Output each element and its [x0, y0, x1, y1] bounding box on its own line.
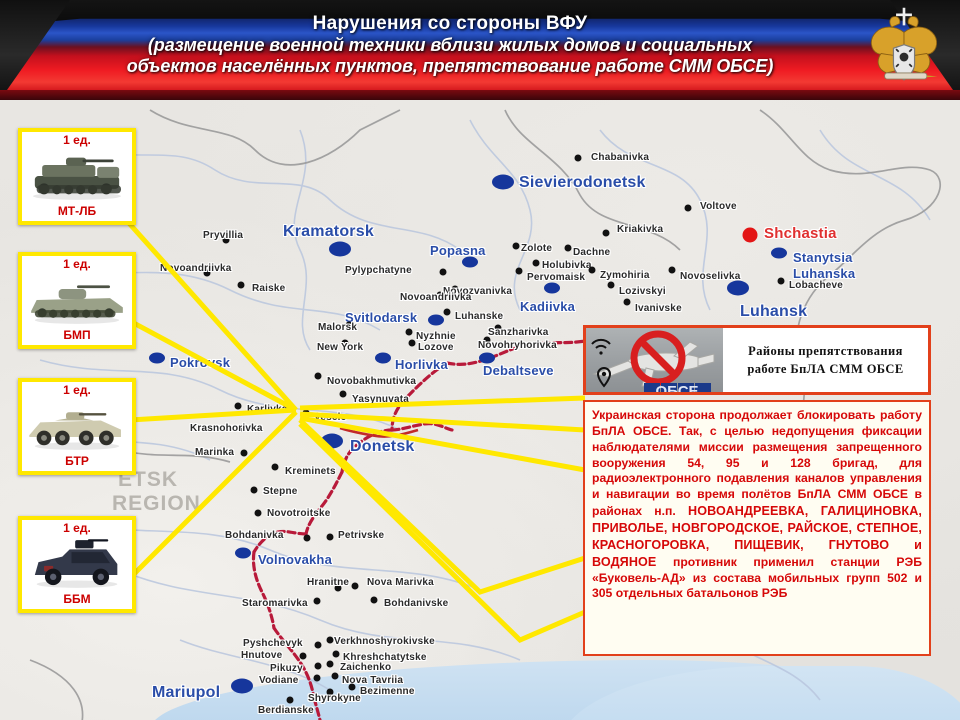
city-label: Horlivka: [395, 357, 448, 372]
town-dot[interactable]: [516, 268, 523, 275]
town-dot[interactable]: [314, 598, 321, 605]
town-label: Malorsk: [318, 322, 357, 333]
city-label: Debaltseve: [483, 363, 554, 378]
town-dot[interactable]: [251, 487, 258, 494]
town-dot[interactable]: [352, 583, 359, 590]
town-label: Kriakivka: [617, 224, 663, 235]
town-dot[interactable]: [241, 450, 248, 457]
town-dot[interactable]: [778, 278, 785, 285]
town-label: Dachne: [573, 247, 610, 258]
town-label: Krasnohorivka: [190, 423, 263, 434]
town-label: Pylypchatyne: [345, 265, 412, 276]
town-label: Hranitne: [307, 577, 349, 588]
town-label: Holubivka: [542, 260, 592, 271]
osce-wordmark: ОБСЕ: [644, 383, 711, 392]
town-dot[interactable]: [327, 534, 334, 541]
town-label: Chabanivka: [591, 152, 649, 163]
armored-truck-icon: [22, 536, 132, 592]
city-dot[interactable]: [321, 434, 343, 449]
vehicle-qty: 1 ед.: [22, 384, 132, 397]
city-label: Volnovakha: [258, 552, 332, 567]
city-dot[interactable]: [235, 548, 251, 559]
town-label: Zaichenko: [340, 662, 391, 673]
vehicle-qty: 1 ед.: [22, 258, 132, 271]
vehicle-card-bbm[interactable]: 1 ед. ББМ: [18, 516, 136, 613]
town-label: Shyrokyne: [308, 693, 361, 704]
town-dot[interactable]: [608, 282, 615, 289]
town-label: Nova Marivka: [367, 577, 434, 588]
info-text-panel: Украинская сторона продолжает блокироват…: [583, 400, 931, 656]
town-dot[interactable]: [575, 155, 582, 162]
city-dot-highlight[interactable]: [743, 228, 758, 243]
vehicle-qty: 1 ед.: [22, 522, 132, 535]
double-headed-eagle-emblem: [860, 6, 948, 94]
town-label: Vesele: [314, 412, 346, 423]
legend-box: ОБСЕ Районы препятствования работе БпЛА …: [583, 325, 931, 395]
city-dot[interactable]: [727, 281, 749, 296]
town-label: Novoselivka: [680, 271, 741, 282]
town-label: Yasynuvata: [352, 394, 409, 405]
town-label: Voltove: [700, 201, 737, 212]
city-label: Shchastia: [764, 225, 837, 242]
town-label: Novobakhmutivka: [327, 376, 416, 387]
city-label: Luhansk: [740, 303, 807, 321]
town-dot[interactable]: [333, 651, 340, 658]
town-label: Lozove: [418, 342, 454, 353]
town-label: Karlivka: [247, 404, 288, 415]
city-label: Kadiivka: [520, 299, 575, 314]
title-line-1: Нарушения со стороны ВФУ: [40, 10, 860, 35]
vehicle-card-btr[interactable]: 1 ед. БТР: [18, 378, 136, 475]
city-dot[interactable]: [375, 353, 391, 364]
town-dot[interactable]: [314, 675, 321, 682]
town-label: Bezimenne: [360, 686, 415, 697]
city-dot[interactable]: [492, 175, 514, 190]
town-dot[interactable]: [624, 299, 631, 306]
town-dot[interactable]: [315, 642, 322, 649]
city-dot[interactable]: [462, 257, 478, 268]
town-dot[interactable]: [238, 282, 245, 289]
town-label: Novotroitske: [267, 508, 331, 519]
town-label: Petrivske: [338, 530, 384, 541]
town-label: Novoandriivka: [400, 292, 472, 303]
town-dot[interactable]: [349, 684, 356, 691]
town-dot[interactable]: [533, 260, 540, 267]
town-label: New York: [317, 342, 363, 353]
town-dot[interactable]: [287, 697, 294, 704]
city-label: Sievierodonetsk: [519, 174, 646, 192]
town-dot[interactable]: [565, 245, 572, 252]
city-dot[interactable]: [149, 353, 165, 364]
city-dot[interactable]: [231, 679, 253, 694]
title-line-3: объектов населённых пунктов, препятствов…: [40, 56, 860, 77]
town-dot[interactable]: [589, 267, 596, 274]
town-label: Vodiane: [259, 675, 299, 686]
town-label: Novoandriivka: [160, 263, 232, 274]
title-banner: Нарушения со стороны ВФУ (размещение вое…: [0, 0, 960, 100]
town-label: Bohdanivka: [225, 530, 284, 541]
vehicle-name: МТ-ЛБ: [22, 205, 132, 218]
uav-thumbnail: ОБСЕ: [586, 328, 723, 392]
city-label: Mariupol: [152, 684, 220, 702]
town-dot[interactable]: [315, 373, 322, 380]
town-label: Stepne: [263, 486, 298, 497]
town-label: Marinka: [195, 447, 234, 458]
town-dot[interactable]: [315, 663, 322, 670]
town-label: Berdianske: [258, 705, 314, 716]
town-dot[interactable]: [440, 269, 447, 276]
town-dot[interactable]: [327, 637, 334, 644]
city-dot[interactable]: [329, 242, 351, 257]
city-label: Donetsk: [350, 438, 415, 456]
town-label: Raiske: [252, 283, 285, 294]
city-label: Stanytsia: [793, 250, 853, 265]
legend-caption-line1: Районы препятствования: [748, 344, 903, 358]
town-label: Pryvillia: [203, 230, 243, 241]
town-label: Ivanivske: [635, 303, 682, 314]
wheeled-apc-icon: [22, 398, 132, 454]
town-dot[interactable]: [444, 309, 451, 316]
ifv-icon: [22, 272, 132, 328]
panel-text-lead: Украинская сторона продолжает блокироват…: [592, 408, 922, 518]
town-dot[interactable]: [304, 535, 311, 542]
wifi-icon: [592, 340, 610, 355]
city-label: Luhanska: [793, 266, 855, 281]
vehicle-name: ББМ: [22, 593, 132, 606]
vehicle-name: БТР: [22, 455, 132, 468]
city-label: Pokrovsk: [170, 355, 230, 370]
town-dot[interactable]: [272, 464, 279, 471]
vehicle-name: БМП: [22, 329, 132, 342]
slide-root: Нарушения со стороны ВФУ (размещение вое…: [0, 0, 960, 720]
legend-caption: Районы препятствования работе БпЛА СММ О…: [723, 328, 928, 392]
city-dot[interactable]: [771, 248, 787, 259]
town-dot[interactable]: [340, 391, 347, 398]
town-dot[interactable]: [303, 410, 310, 417]
town-label: Staromarivka: [242, 598, 308, 609]
town-label: Sanzharivka: [488, 327, 549, 338]
town-label: Lozivskyi: [619, 286, 666, 297]
town-label: Bohdanivske: [384, 598, 448, 609]
town-label: Nyzhnie: [416, 331, 456, 342]
town-label: Zymohiria: [600, 270, 650, 281]
legend-caption-line2: работе БпЛА СММ ОБСЕ: [747, 362, 903, 376]
town-dot[interactable]: [371, 597, 378, 604]
town-dot[interactable]: [603, 230, 610, 237]
town-dot[interactable]: [255, 510, 262, 517]
city-dot[interactable]: [479, 353, 495, 364]
svg-text:ОБСЕ: ОБСЕ: [655, 383, 698, 392]
town-label: Verkhnoshyrokivske: [334, 636, 435, 647]
town-label: Novohryhorivka: [478, 340, 557, 351]
town-label: Hnutove: [241, 650, 282, 661]
town-label: Luhanske: [455, 311, 503, 322]
vehicle-card-mtlb[interactable]: 1 ед. МТ-ЛБ: [18, 128, 136, 225]
town-label: Pyshchevyk: [243, 638, 303, 649]
town-dot[interactable]: [409, 340, 416, 347]
city-label: Kramatorsk: [283, 223, 374, 241]
town-dot[interactable]: [685, 205, 692, 212]
page-title: Нарушения со стороны ВФУ (размещение вое…: [40, 10, 860, 77]
town-label: Zolote: [521, 243, 552, 254]
tracked-apc-icon: [22, 148, 132, 204]
town-label: Pikuzy: [270, 663, 303, 674]
town-dot[interactable]: [513, 243, 520, 250]
town-label: Pervomaisk: [527, 272, 585, 283]
city-dot[interactable]: [544, 283, 560, 294]
town-dot[interactable]: [406, 329, 413, 336]
town-dot[interactable]: [327, 661, 334, 668]
vehicle-card-bmp[interactable]: 1 ед. БМП: [18, 252, 136, 349]
city-dot[interactable]: [428, 315, 444, 326]
town-dot[interactable]: [235, 403, 242, 410]
map-region-label: REGION: [112, 492, 201, 516]
town-label: Lobacheve: [789, 280, 843, 291]
title-line-2: (размещение военной техники вблизи жилых…: [40, 35, 860, 56]
town-dot[interactable]: [332, 673, 339, 680]
city-label: Popasna: [430, 243, 486, 258]
town-dot[interactable]: [669, 267, 676, 274]
vehicle-qty: 1 ед.: [22, 134, 132, 147]
town-label: Kreminets: [285, 466, 336, 477]
town-dot[interactable]: [300, 653, 307, 660]
